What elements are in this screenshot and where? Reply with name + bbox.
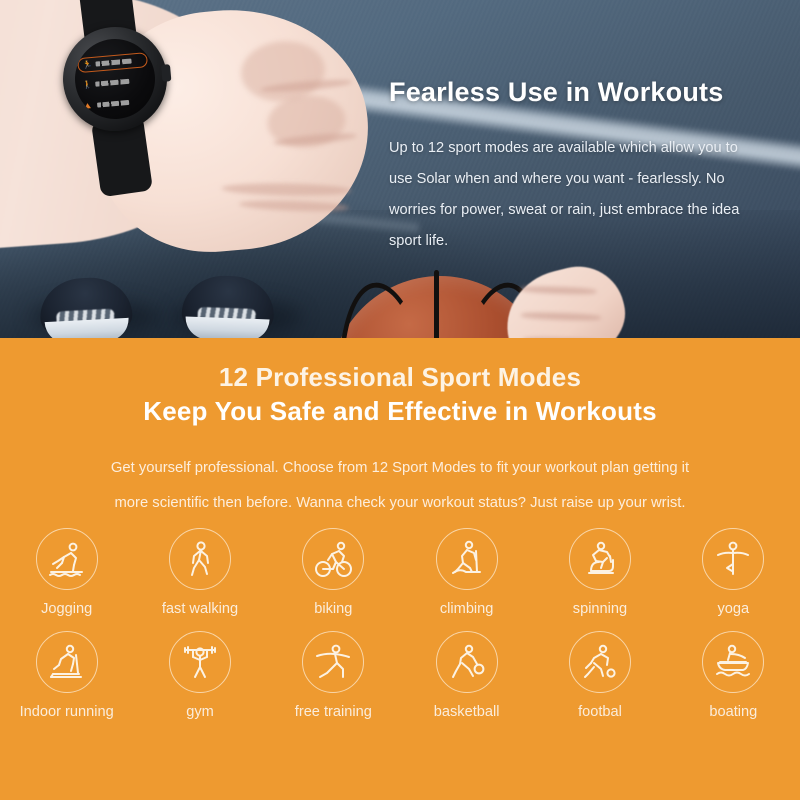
hero-body-line: Up to 12 sport modes are available which…	[389, 133, 781, 164]
sport-mode-basketball[interactable]: basketball	[400, 631, 533, 720]
basketball-player-icon[interactable]	[436, 631, 498, 693]
sport-mode-label: footbal	[578, 704, 622, 720]
walking-icon: 🚶	[82, 80, 91, 90]
running-icon: 🏃	[82, 60, 91, 70]
modes-body-line: more scientific then before. Wanna check…	[28, 486, 772, 521]
sport-mode-label: Jogging	[41, 601, 92, 617]
sport-mode-yoga[interactable]: yoga	[667, 528, 800, 617]
sport-mode-free-training[interactable]: free training	[267, 631, 400, 720]
spinning-bike-icon[interactable]	[569, 528, 631, 590]
hero-photo-section: 🏃 🚶 ⛰	[0, 0, 800, 338]
sport-mode-climbing[interactable]: climbing	[400, 528, 533, 617]
watch-mode-row[interactable]: 🚶	[82, 77, 130, 90]
sport-mode-biking[interactable]: biking	[267, 528, 400, 617]
hero-body-line: sport life.	[389, 226, 781, 257]
watch-mode-row[interactable]: ⛰	[84, 98, 130, 111]
watch-mode-label	[97, 100, 129, 108]
sport-mode-label: gym	[186, 704, 214, 720]
sport-mode-label: climbing	[440, 601, 494, 617]
sport-modes-row-1: Jogging fast walking	[0, 528, 800, 617]
product-feature-page: 🏃 🚶 ⛰	[0, 0, 800, 800]
sport-mode-jogging[interactable]: Jogging	[0, 528, 133, 617]
modes-heading-line1: 12 Professional Sport Modes	[0, 362, 800, 393]
rowing-boat-icon[interactable]	[702, 631, 764, 693]
hero-paragraph: Up to 12 sport modes are available which…	[389, 133, 781, 257]
football-player-icon[interactable]	[569, 631, 631, 693]
treadmill-running-icon[interactable]	[36, 631, 98, 693]
watch-mode-label	[95, 79, 129, 87]
sport-modes-grid: Jogging fast walking	[0, 528, 800, 720]
hero-body-line: worries for power, sweat or rain, just e…	[389, 195, 781, 226]
sport-mode-indoor-running[interactable]: Indoor running	[0, 631, 133, 720]
sport-mode-spinning[interactable]: spinning	[533, 528, 666, 617]
cycling-icon[interactable]	[302, 528, 364, 590]
sport-mode-label: free training	[295, 704, 372, 720]
sport-modes-section: 12 Professional Sport Modes Keep You Saf…	[0, 338, 800, 800]
hiking-icon: ⛰	[84, 101, 93, 111]
modes-heading-line2: Keep You Safe and Effective in Workouts	[0, 396, 800, 427]
sport-mode-fast-walking[interactable]: fast walking	[133, 528, 266, 617]
climbing-icon[interactable]	[436, 528, 498, 590]
watch-crown-button[interactable]	[161, 64, 171, 82]
modes-paragraph: Get yourself professional. Choose from 1…	[28, 451, 772, 521]
sport-mode-label: boating	[709, 704, 757, 720]
sport-mode-label: fast walking	[162, 601, 238, 617]
treadmill-jogging-icon[interactable]	[36, 528, 98, 590]
sport-modes-row-2: Indoor running	[0, 631, 800, 720]
hero-title: Fearless Use in Workouts	[389, 77, 723, 108]
hero-body-line: use Solar when and where you want - fear…	[389, 164, 781, 195]
barbell-lift-icon[interactable]	[169, 631, 231, 693]
sport-mode-label: yoga	[717, 601, 749, 617]
yoga-tree-pose-icon[interactable]	[702, 528, 764, 590]
watch-screen[interactable]: 🏃 🚶 ⛰	[72, 36, 159, 123]
shoe-sole	[45, 318, 130, 338]
sport-mode-gym[interactable]: gym	[133, 631, 266, 720]
warrior-pose-icon[interactable]	[302, 631, 364, 693]
walking-icon[interactable]	[169, 528, 231, 590]
sport-mode-label: Indoor running	[20, 704, 114, 720]
sport-mode-label: basketball	[434, 704, 500, 720]
sport-mode-boating[interactable]: boating	[667, 631, 800, 720]
sport-mode-label: spinning	[573, 601, 627, 617]
shoe-sole	[185, 317, 270, 338]
watch-mode-label	[95, 59, 131, 67]
sport-mode-footbal[interactable]: footbal	[533, 631, 666, 720]
modes-body-line: Get yourself professional. Choose from 1…	[28, 451, 772, 486]
watch-mode-row-selected[interactable]: 🏃	[77, 52, 148, 73]
sport-mode-label: biking	[314, 601, 352, 617]
